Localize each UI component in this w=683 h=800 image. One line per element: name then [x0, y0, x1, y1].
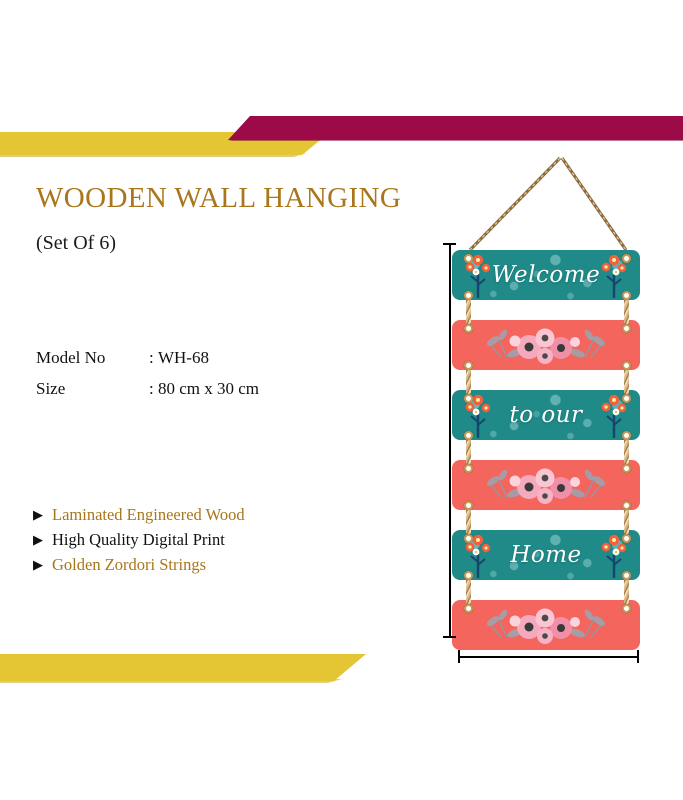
- feature-item: ▶ Laminated Engineered Wood: [33, 505, 245, 530]
- top-maroon-ribbon: [228, 116, 683, 140]
- page-title: WOODEN WALL HANGING: [36, 182, 401, 215]
- feature-label: Golden Zordori Strings: [52, 555, 206, 575]
- rope-connector: [624, 576, 629, 604]
- spec-value-size: : 80 cm x 30 cm: [149, 379, 259, 399]
- spec-value-model-no: : WH-68: [149, 348, 209, 368]
- rope-connector: [624, 436, 629, 464]
- eyelet: [464, 571, 473, 580]
- eyelet: [464, 604, 473, 613]
- feature-item: ▶ Golden Zordori Strings: [33, 555, 245, 580]
- rope-connector: [466, 506, 471, 534]
- rope-connector: [466, 576, 471, 604]
- product-illustration: Welcome: [430, 150, 683, 690]
- eyelet: [464, 394, 473, 403]
- eyelet: [464, 361, 473, 370]
- plank-welcome: Welcome: [452, 250, 640, 300]
- feature-item: ▶ High Quality Digital Print: [33, 530, 245, 555]
- triangle-right-icon: ▶: [33, 533, 43, 546]
- eyelet: [622, 431, 631, 440]
- height-measurement-guide: [443, 243, 456, 638]
- spec-label-model-no: Model No: [36, 348, 149, 368]
- floral-cluster-icon: [481, 463, 611, 507]
- floral-cluster-icon: [481, 323, 611, 367]
- eyelet: [464, 464, 473, 473]
- eyelet: [464, 291, 473, 300]
- rope-connector: [466, 296, 471, 324]
- eyelet: [622, 464, 631, 473]
- spec-row-size: Size : 80 cm x 30 cm: [36, 379, 259, 410]
- rope-connector: [624, 296, 629, 324]
- eyelet: [464, 501, 473, 510]
- floral-cluster-icon: [481, 603, 611, 647]
- eyelet: [622, 291, 631, 300]
- eyelet: [464, 324, 473, 333]
- eyelet: [622, 254, 631, 263]
- spec-label-size: Size: [36, 379, 149, 399]
- spec-row-model-no: Model No : WH-68: [36, 348, 259, 379]
- eyelet: [622, 604, 631, 613]
- specifications-list: Model No : WH-68 Size : 80 cm x 30 cm: [36, 348, 259, 410]
- features-list: ▶ Laminated Engineered Wood ▶ High Quali…: [33, 505, 245, 580]
- eyelet: [622, 394, 631, 403]
- plank-home: Home: [452, 530, 640, 580]
- measure-cap-right: [637, 650, 639, 663]
- plank-text: Home: [452, 530, 640, 580]
- eyelet: [464, 254, 473, 263]
- hanging-rope-icon: [430, 150, 683, 255]
- eyelet: [622, 324, 631, 333]
- measure-bar: [449, 243, 451, 638]
- page-subtitle: (Set Of 6): [36, 232, 116, 255]
- eyelet: [622, 501, 631, 510]
- eyelet: [622, 571, 631, 580]
- product-infographic: WOODEN WALL HANGING (Set Of 6) Model No …: [0, 0, 683, 800]
- plank-floral: [452, 600, 640, 650]
- plank-text: to our: [452, 390, 640, 440]
- plank-to-our: to our: [452, 390, 640, 440]
- eyelet: [622, 534, 631, 543]
- plank-text: Welcome: [452, 250, 640, 300]
- feature-label: Laminated Engineered Wood: [52, 505, 245, 525]
- triangle-right-icon: ▶: [33, 558, 43, 571]
- rope-connector: [466, 436, 471, 464]
- measure-cap-bottom: [443, 636, 456, 638]
- eyelet: [622, 361, 631, 370]
- rope-connector: [624, 506, 629, 534]
- eyelet: [464, 534, 473, 543]
- width-measurement-guide: [458, 650, 639, 663]
- measure-bar: [458, 656, 639, 658]
- rope-connector: [466, 366, 471, 394]
- eyelet: [464, 431, 473, 440]
- rope-connector: [624, 366, 629, 394]
- plank-floral: [452, 460, 640, 510]
- triangle-right-icon: ▶: [33, 508, 43, 521]
- bottom-yellow-ribbon: [0, 654, 366, 681]
- feature-label: High Quality Digital Print: [52, 530, 225, 550]
- plank-floral: [452, 320, 640, 370]
